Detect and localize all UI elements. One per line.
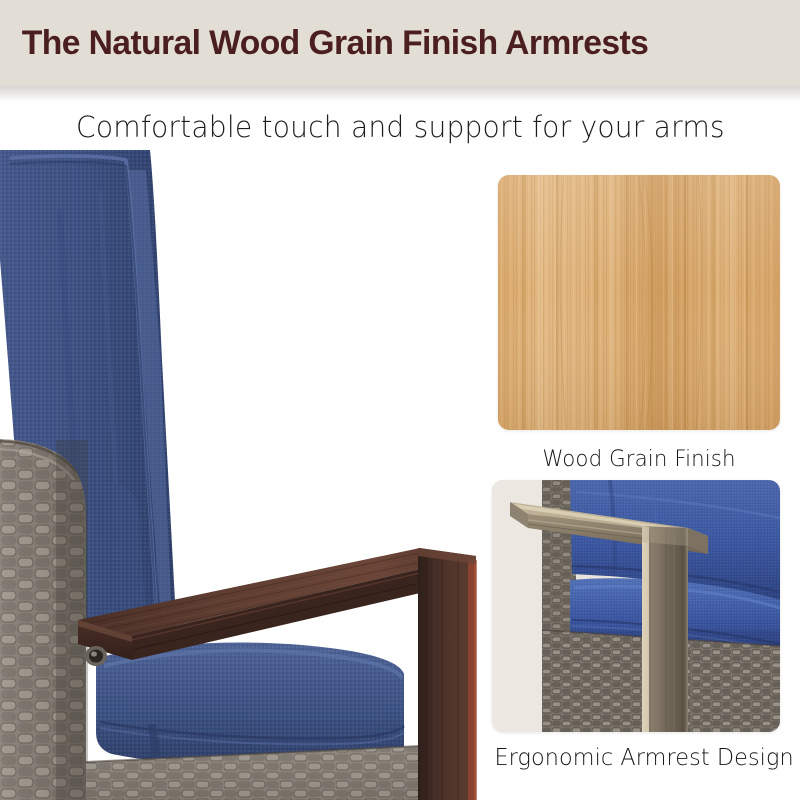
ergonomic-armrest-caption: Ergonomic Armrest Design: [494, 745, 783, 771]
subtitle-text: Comfortable touch and support for your a…: [76, 110, 725, 144]
hero-photo: [0, 150, 500, 800]
header-band: The Natural Wood Grain Finish Armrests: [0, 0, 800, 86]
ergonomic-armrest-card: [492, 480, 780, 732]
wood-grain-caption: Wood Grain Finish: [502, 447, 776, 472]
wood-grain-swatch-card: [498, 175, 780, 430]
seat-cushion: [96, 643, 404, 767]
wicker-side-panel: [0, 439, 88, 800]
armrest-vertical-post: [418, 548, 477, 800]
oak-wood-grain-swatch: [498, 175, 780, 430]
subtitle-row: Comfortable touch and support for your a…: [0, 96, 800, 158]
ergonomic-armrest-chair-photo: [492, 480, 780, 732]
product-feature-infographic: The Natural Wood Grain Finish Armrests C…: [0, 0, 800, 800]
page-title: The Natural Wood Grain Finish Armrests: [0, 24, 648, 63]
wicker-armchair-illustration: [0, 150, 500, 800]
armrest-bolt: [85, 646, 107, 666]
